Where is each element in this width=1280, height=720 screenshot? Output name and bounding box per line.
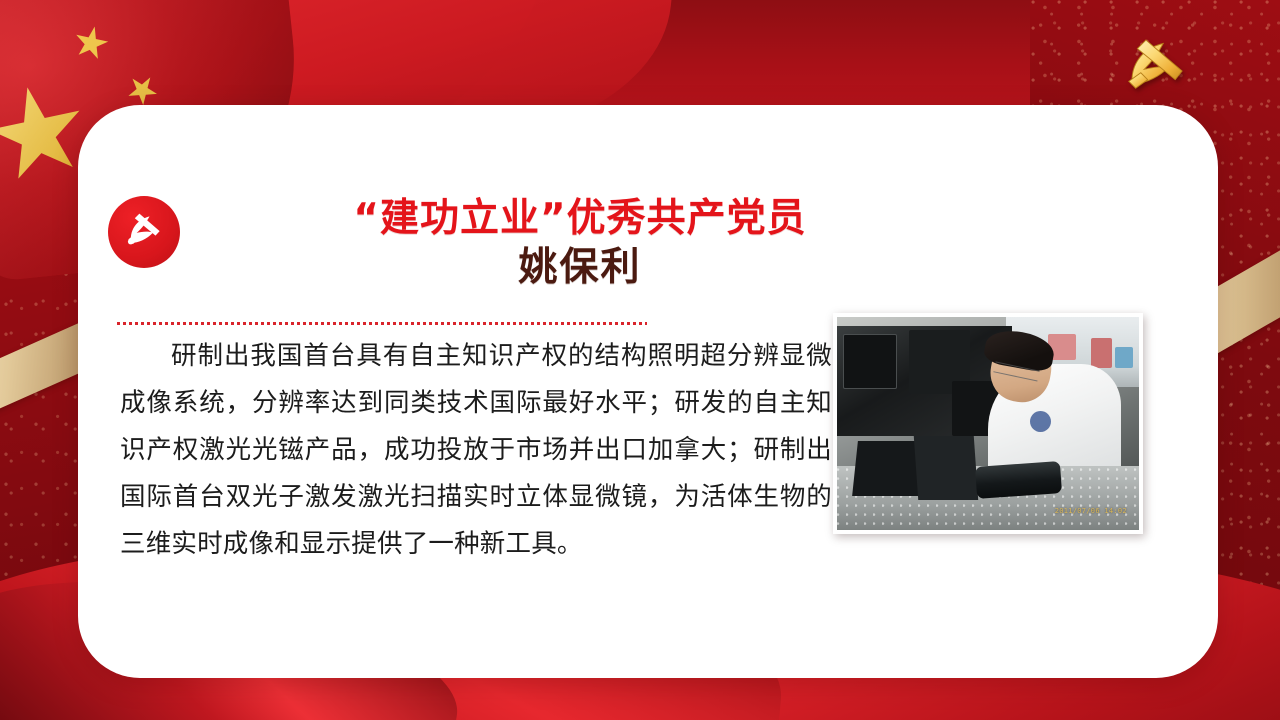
content-card: “建功立业”优秀共产党员 姚保利 研制出我国首台具有自主知识产权的结构照明超分辨… — [78, 105, 1218, 678]
slide-root: “建功立业”优秀共产党员 姚保利 研制出我国首台具有自主知识产权的结构照明超分辨… — [0, 0, 1280, 720]
photo-optics-module-2 — [913, 436, 978, 500]
photo-frame: 2011/07/06 14:02 — [833, 313, 1143, 534]
photo-lens-barrel — [975, 461, 1062, 499]
photo-optics-module-1 — [852, 441, 924, 496]
photo-timestamp: 2011/07/06 14:02 — [1055, 507, 1127, 515]
page-title: “建功立业”优秀共产党员 — [200, 197, 960, 241]
dotted-divider — [117, 322, 647, 325]
photo-monitor — [843, 334, 897, 389]
photo-shelf-item-2 — [1091, 338, 1112, 368]
body-paragraph: 研制出我国首台具有自主知识产权的结构照明超分辨显微成像系统，分辨率达到同类技术国… — [120, 333, 832, 568]
hammer-and-sickle-gold-icon — [1114, 28, 1202, 102]
party-emblem-badge-icon — [108, 196, 180, 268]
title-block: “建功立业”优秀共产党员 姚保利 — [200, 197, 960, 291]
photo-shelf-item-3 — [1115, 347, 1133, 368]
scientist-photo: 2011/07/06 14:02 — [837, 317, 1139, 530]
person-name: 姚保利 — [200, 245, 960, 292]
